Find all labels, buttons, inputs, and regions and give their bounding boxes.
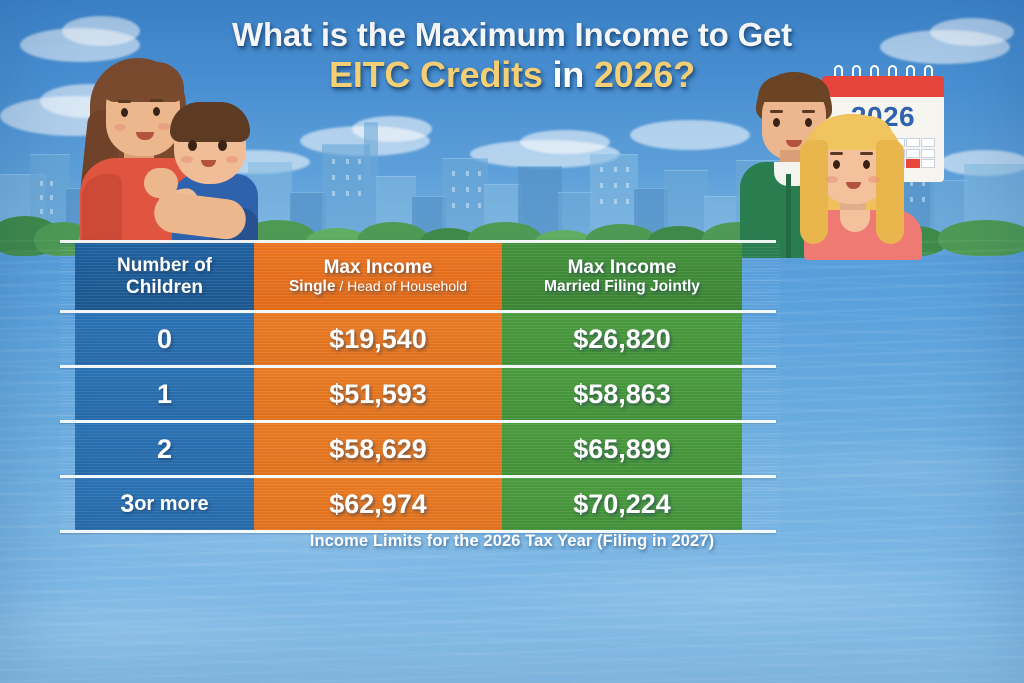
cell-single-income: $58,629 <box>254 423 502 475</box>
cell-single-income: $19,540 <box>254 313 502 365</box>
header-single-thin: Head of Household <box>347 278 467 294</box>
cell-children-count: 3 or more <box>75 478 254 530</box>
header-max-income-joint: Max Income Married Filing Jointly <box>502 243 742 310</box>
footnote-text: Income Limits for the 2026 Tax Year (Fil… <box>0 532 1024 551</box>
header-max-income-single: Max Income Single / Head of Household <box>254 243 502 310</box>
cell-children-count: 2 <box>75 423 254 475</box>
table-header-row: Number of Children Max Income Single / H… <box>75 243 780 310</box>
infographic-canvas: 2026 <box>0 0 1024 683</box>
cell-children-count: 1 <box>75 368 254 420</box>
couple-illustration <box>748 70 928 255</box>
table-row: 2 $58,629 $65,899 <box>75 423 780 475</box>
eitc-income-table: Number of Children Max Income Single / H… <box>60 240 780 533</box>
cell-children-count: 0 <box>75 313 254 365</box>
cell-joint-income: $70,224 <box>502 478 742 530</box>
cell-joint-income: $58,863 <box>502 368 742 420</box>
table-row: 3 or more $62,974 $70,224 <box>75 478 780 530</box>
table-row: 0 $19,540 $26,820 <box>75 313 780 365</box>
table-row: 1 $51,593 $58,863 <box>75 368 780 420</box>
cell-joint-income: $65,899 <box>502 423 742 475</box>
mother-and-child-illustration <box>62 48 267 253</box>
header-single-bold: Single <box>289 278 336 295</box>
header-single-sep: / <box>335 278 347 294</box>
cell-single-income: $51,593 <box>254 368 502 420</box>
cell-joint-income: $26,820 <box>502 313 742 365</box>
header-number-of-children: Number of Children <box>75 243 254 310</box>
cell-single-income: $62,974 <box>254 478 502 530</box>
